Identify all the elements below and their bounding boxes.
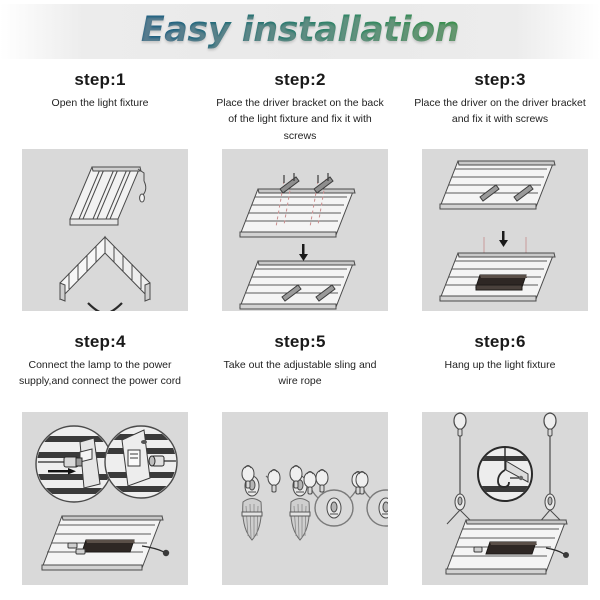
step-label-3: step:3: [400, 70, 600, 90]
step-illustration-3: [422, 149, 588, 311]
installation-guide-page: Easy installation step:1 Open the light …: [0, 0, 600, 600]
step-description-3: Place the driver on the driver bracket a…: [414, 95, 586, 128]
step-illustration-1: [22, 149, 188, 311]
step-illustration-4: [22, 412, 188, 585]
step-cell-1: step:1 Open the light fixture: [0, 62, 200, 324]
step-cell-4: step:4 Connect the lamp to the power sup…: [0, 324, 200, 586]
step-description-5: Take out the adjustable sling and wire r…: [214, 357, 386, 390]
step-label-5: step:5: [200, 332, 400, 352]
step-cell-3: step:3 Place the driver on the driver br…: [400, 62, 600, 324]
page-title: Easy installation: [0, 10, 600, 50]
step-cell-2: step:2 Place the driver bracket on the b…: [200, 62, 400, 324]
step-cell-5: step:5 Take out the adjustable sling and…: [200, 324, 400, 586]
step-description-4: Connect the lamp to the power supply,and…: [14, 357, 186, 390]
step-label-2: step:2: [200, 70, 400, 90]
step-illustration-2: [222, 149, 388, 311]
step-description-1: Open the light fixture: [14, 95, 186, 111]
step-description-2: Place the driver bracket on the back of …: [214, 95, 386, 144]
step-label-4: step:4: [0, 332, 200, 352]
step-illustration-6: [422, 412, 588, 585]
step-illustration-5: [222, 412, 388, 585]
step-description-6: Hang up the light fixture: [414, 357, 586, 373]
step-label-6: step:6: [400, 332, 600, 352]
steps-grid: step:1 Open the light fixture: [0, 62, 600, 592]
step-label-1: step:1: [0, 70, 200, 90]
step-cell-6: step:6 Hang up the light fixture: [400, 324, 600, 586]
